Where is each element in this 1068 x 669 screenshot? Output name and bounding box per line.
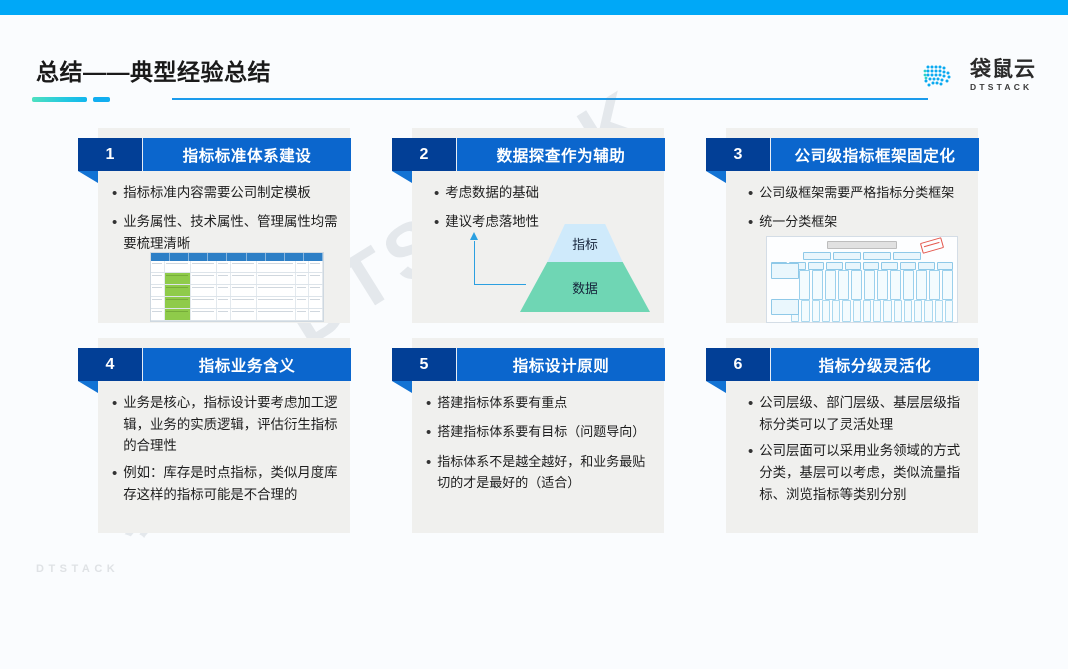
card-6-number: 6 [706, 348, 770, 381]
card-2-ribbon-fold [392, 171, 412, 183]
card-6-ribbon-header: 6 指标分级灵活化 [706, 348, 979, 381]
card-2-bullet-1-text: 考虑数据的基础 [445, 182, 539, 204]
card-1-ribbon-fold [78, 171, 98, 183]
card-2-bullet-1: • 考虑数据的基础 [434, 182, 654, 206]
card-5-bullet-3-text: 指标体系不是越全越好，和业务最贴切的才是最好的（适合） [437, 451, 654, 493]
card-1-number: 1 [78, 138, 142, 171]
card-2-ribbon-header: 2 数据探查作为辅助 [392, 138, 665, 171]
card-4-bullet-1-text: 业务是核心，指标设计要考虑加工逻辑，业务的实质逻辑，评估衍生指标的合理性 [123, 392, 340, 457]
card-4: 4 指标业务含义 • 业务是核心，指标设计要考虑加工逻辑，业务的实质逻辑，评估衍… [98, 338, 350, 533]
card-4-number: 4 [78, 348, 142, 381]
table-row [151, 297, 323, 309]
bullet-dot-icon: • [434, 211, 439, 235]
bullet-dot-icon: • [112, 462, 117, 486]
card-2-number: 2 [392, 138, 456, 171]
card-6: 6 指标分级灵活化 • 公司层级、部门层级、基层层级指标分类可以了灵活处理 • … [726, 338, 978, 533]
bullet-dot-icon: • [434, 182, 439, 206]
bullet-dot-icon: • [426, 392, 431, 416]
card-3-bullet-1-text: 公司级框架需要严格指标分类框架 [759, 182, 954, 203]
card-5-bullet-2-text: 搭建指标体系要有目标（问题导向） [437, 421, 645, 442]
org-row-4 [799, 270, 953, 300]
card-4-ribbon-header: 4 指标业务含义 [78, 348, 351, 381]
bullet-dot-icon: • [426, 451, 431, 475]
card-1-bullet-2: • 业务属性、技术属性、管理属性均需要梳理清晰 [112, 211, 340, 254]
footer-brand: DTSTACK [36, 563, 119, 575]
card-3-bullet-2-text: 统一分类框架 [759, 211, 837, 232]
table-row [151, 309, 323, 321]
card-1-bullets: • 指标标准内容需要公司制定模板 • 业务属性、技术属性、管理属性均需要梳理清晰 [112, 182, 340, 260]
org-row-top [827, 241, 897, 249]
card-1-bullet-1-text: 指标标准内容需要公司制定模板 [123, 182, 310, 204]
org-chart-thumbnail [766, 236, 958, 323]
card-1-bullet-2-text: 业务属性、技术属性、管理属性均需要梳理清晰 [123, 211, 340, 254]
table-row [151, 285, 323, 297]
thumbnail-table-header [151, 253, 323, 261]
card-5-bullet-2: • 搭建指标体系要有目标（问题导向） [426, 421, 654, 445]
card-3-ribbon-header: 3 公司级指标框架固定化 [706, 138, 979, 171]
card-4-bullet-2-text: 例如：库存是时点指标，类似月度库存这样的指标可能是不合理的 [123, 462, 340, 505]
card-5-title: 指标设计原则 [456, 348, 665, 381]
card-5-ribbon-header: 5 指标设计原则 [392, 348, 665, 381]
card-2-title: 数据探查作为辅助 [456, 138, 665, 171]
card-4-ribbon-fold [78, 381, 98, 393]
card-5-bullet-1-text: 搭建指标体系要有重点 [437, 392, 567, 413]
card-1: 1 指标标准体系建设 • 指标标准内容需要公司制定模板 • 业务属性、技术属性、… [98, 128, 350, 323]
card-1-ribbon-header: 1 指标标准体系建设 [78, 138, 351, 171]
card-6-ribbon-fold [706, 381, 726, 393]
thumbnail-table-body [151, 261, 323, 321]
spreadsheet-thumbnail [150, 252, 324, 322]
card-3-bullets: • 公司级框架需要严格指标分类框架 • 统一分类框架 [748, 182, 968, 241]
card-3-bullet-1: • 公司级框架需要严格指标分类框架 [748, 182, 968, 206]
card-4-bullet-1: • 业务是核心，指标设计要考虑加工逻辑，业务的实质逻辑，评估衍生指标的合理性 [112, 392, 340, 457]
bullet-dot-icon: • [112, 211, 117, 235]
card-3-title: 公司级指标框架固定化 [770, 138, 979, 171]
card-1-bullet-1: • 指标标准内容需要公司制定模板 [112, 182, 340, 206]
table-row [151, 273, 323, 285]
org-side-label-1 [771, 263, 799, 279]
card-3-number: 3 [706, 138, 770, 171]
bullet-dot-icon: • [748, 392, 753, 416]
card-6-title: 指标分级灵活化 [770, 348, 979, 381]
card-4-bullet-2: • 例如：库存是时点指标，类似月度库存这样的指标可能是不合理的 [112, 462, 340, 505]
cards-grid: 1 指标标准体系建设 • 指标标准内容需要公司制定模板 • 业务属性、技术属性、… [0, 0, 1068, 599]
card-5: 5 指标设计原则 • 搭建指标体系要有重点 • 搭建指标体系要有目标（问题导向）… [412, 338, 664, 533]
card-5-ribbon-fold [392, 381, 412, 393]
card-6-bullets: • 公司层级、部门层级、基层层级指标分类可以了灵活处理 • 公司层面可以采用业务… [748, 392, 968, 511]
bullet-dot-icon: • [112, 182, 117, 206]
pyramid-bottom-label: 数据 [520, 278, 650, 297]
card-4-bullets: • 业务是核心，指标设计要考虑加工逻辑，业务的实质逻辑，评估衍生指标的合理性 •… [112, 392, 340, 511]
card-3-bullet-2: • 统一分类框架 [748, 211, 968, 235]
card-5-bullet-1: • 搭建指标体系要有重点 [426, 392, 654, 416]
table-row [151, 261, 323, 273]
bullet-dot-icon: • [112, 392, 117, 416]
card-5-number: 5 [392, 348, 456, 381]
org-row-5 [791, 300, 953, 322]
card-5-bullets: • 搭建指标体系要有重点 • 搭建指标体系要有目标（问题导向） • 指标体系不是… [426, 392, 654, 498]
bullet-dot-icon: • [748, 440, 753, 464]
card-2: 2 数据探查作为辅助 • 考虑数据的基础 • 建议考虑落地性 指 [412, 128, 664, 323]
bullet-dot-icon: • [426, 421, 431, 445]
pyramid-top-label: 指标 [520, 234, 650, 253]
card-6-bullet-2-text: 公司层面可以采用业务领域的方式分类，基层可以考虑，类似流量指标、浏览指标等类别分… [759, 440, 968, 505]
card-6-bullet-1-text: 公司层级、部门层级、基层层级指标分类可以了灵活处理 [759, 392, 968, 435]
card-3-ribbon-fold [706, 171, 726, 183]
card-4-title: 指标业务含义 [142, 348, 351, 381]
slide-root: 总结——典型经验总结 [0, 0, 1068, 599]
org-side-label-2 [771, 299, 799, 315]
bullet-dot-icon: • [748, 211, 753, 235]
org-row-2 [771, 252, 953, 260]
card-1-title: 指标标准体系建设 [142, 138, 351, 171]
card-6-bullet-1: • 公司层级、部门层级、基层层级指标分类可以了灵活处理 [748, 392, 968, 435]
card-6-bullet-2: • 公司层面可以采用业务领域的方式分类，基层可以考虑，类似流量指标、浏览指标等类… [748, 440, 968, 505]
bullet-dot-icon: • [748, 182, 753, 206]
pyramid-diagram: 指标 数据 [520, 224, 650, 312]
card-3: 3 公司级指标框架固定化 • 公司级框架需要严格指标分类框架 • 统一分类框架 [726, 128, 978, 323]
card-5-bullet-3: • 指标体系不是越全越好，和业务最贴切的才是最好的（适合） [426, 451, 654, 493]
